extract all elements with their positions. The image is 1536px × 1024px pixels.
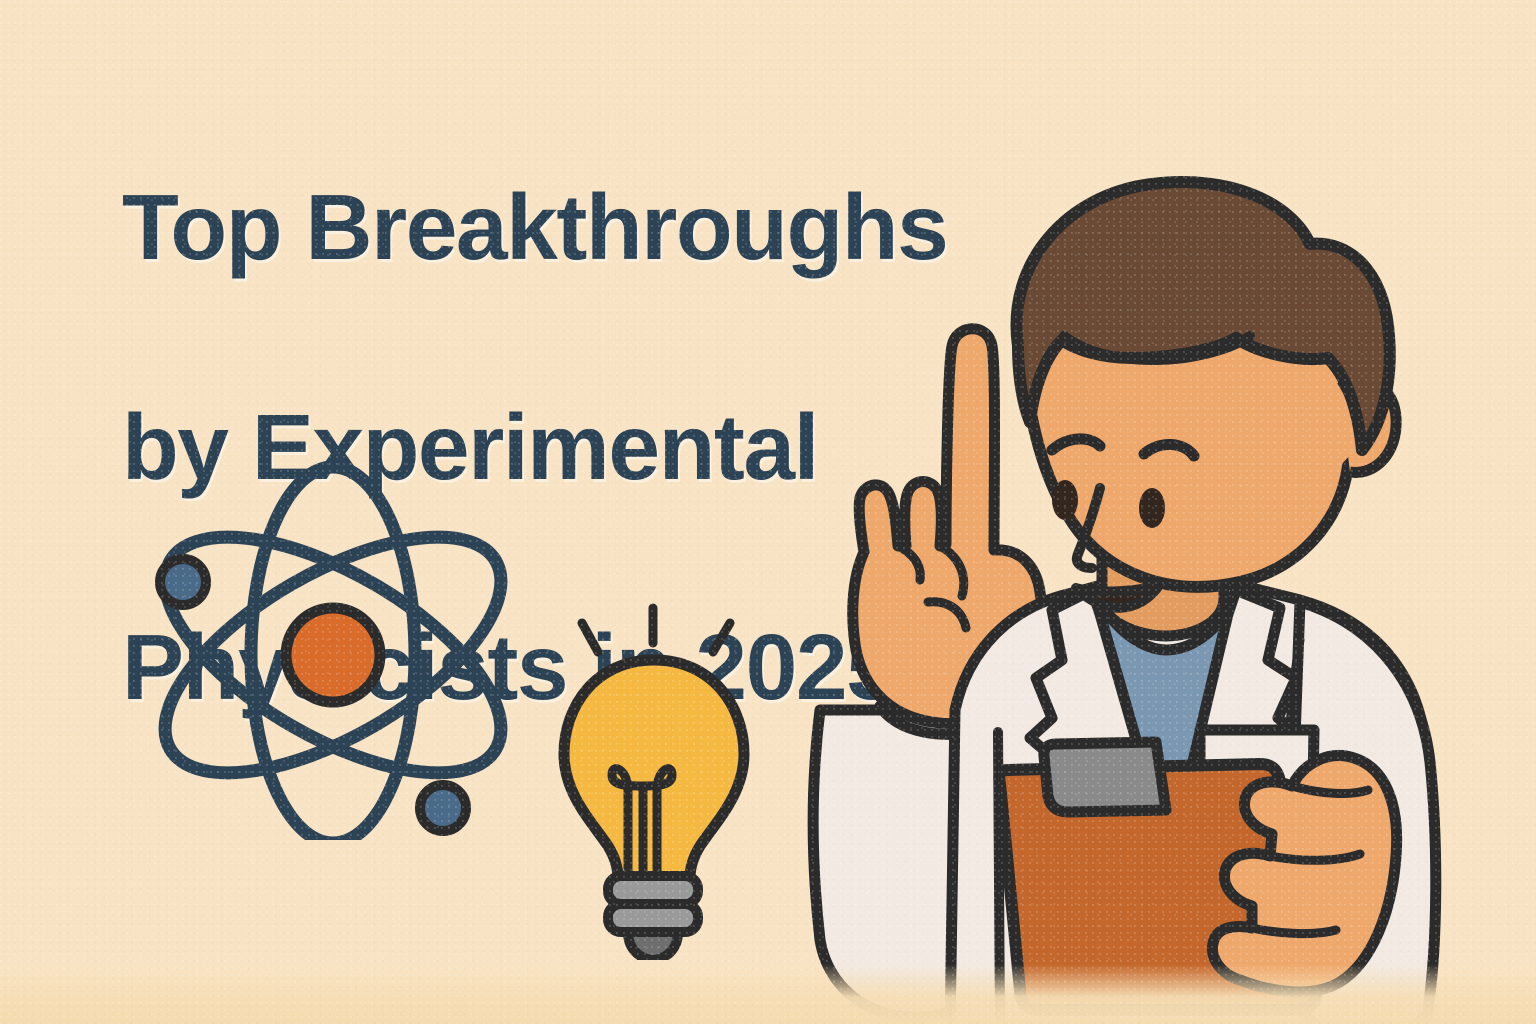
atom-icon [140,440,540,840]
poster-canvas: Top Breakthroughs by Experimental Physic… [0,0,1536,1024]
eye-right [1139,488,1165,528]
scientist-illustration [700,150,1460,1024]
atom-electron-1 [160,559,206,605]
clipboard-clip [1044,742,1166,812]
atom-nucleus [286,608,380,702]
lightbulb-tip [628,932,678,960]
eye-left [1052,480,1078,520]
background-floor-band [0,964,1536,1024]
atom-electron-2 [420,785,466,831]
